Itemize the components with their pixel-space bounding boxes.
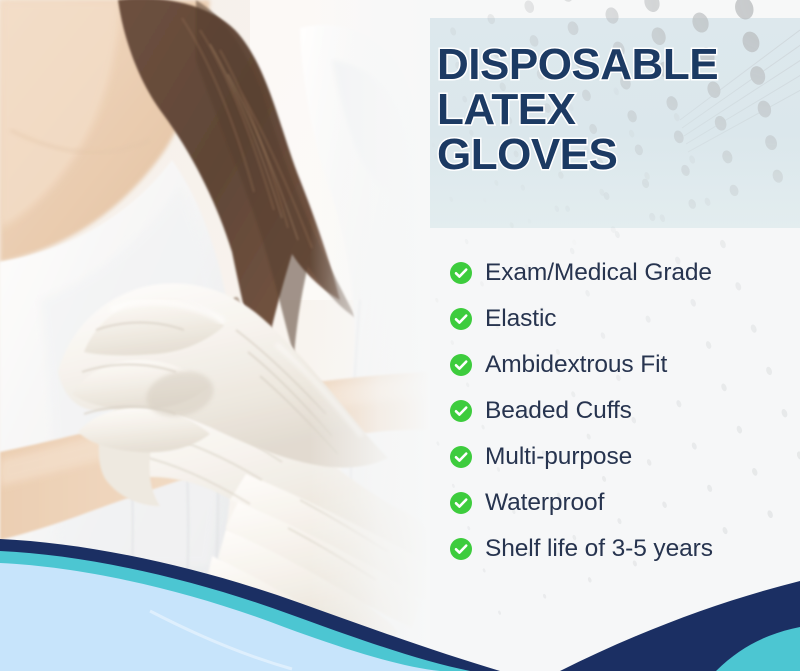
list-item: Waterproof [450,480,795,526]
list-item-label: Waterproof [485,489,604,517]
list-item-label: Multi-purpose [485,443,632,471]
list-item: Shelf life of 3-5 years [450,526,795,572]
list-item: Beaded Cuffs [450,388,795,434]
page-title: DISPOSABLE LATEX GLOVES [437,42,789,177]
list-item: Elastic [450,296,795,342]
list-item: Ambidextrous Fit [450,342,795,388]
check-circle-icon [450,262,472,284]
list-item-label: Elastic [485,305,556,333]
title-line-2: LATEX [437,87,789,132]
list-item: Multi-purpose [450,434,795,480]
check-circle-icon [450,538,472,560]
feature-list: Exam/Medical Grade Elastic Ambidextrous … [450,250,795,572]
product-photo [0,0,430,671]
check-circle-icon [450,308,472,330]
check-circle-icon [450,446,472,468]
list-item-label: Shelf life of 3-5 years [485,535,713,563]
list-item-label: Exam/Medical Grade [485,259,712,287]
list-item: Exam/Medical Grade [450,250,795,296]
check-circle-icon [450,354,472,376]
check-circle-icon [450,400,472,422]
title-line-1: DISPOSABLE [437,42,789,87]
title-line-3: GLOVES [437,132,789,177]
photo-illustration [0,0,430,671]
list-item-label: Ambidextrous Fit [485,351,667,379]
product-poster: DISPOSABLE LATEX GLOVES Exam/Medical Gra… [0,0,800,671]
list-item-label: Beaded Cuffs [485,397,632,425]
check-circle-icon [450,492,472,514]
